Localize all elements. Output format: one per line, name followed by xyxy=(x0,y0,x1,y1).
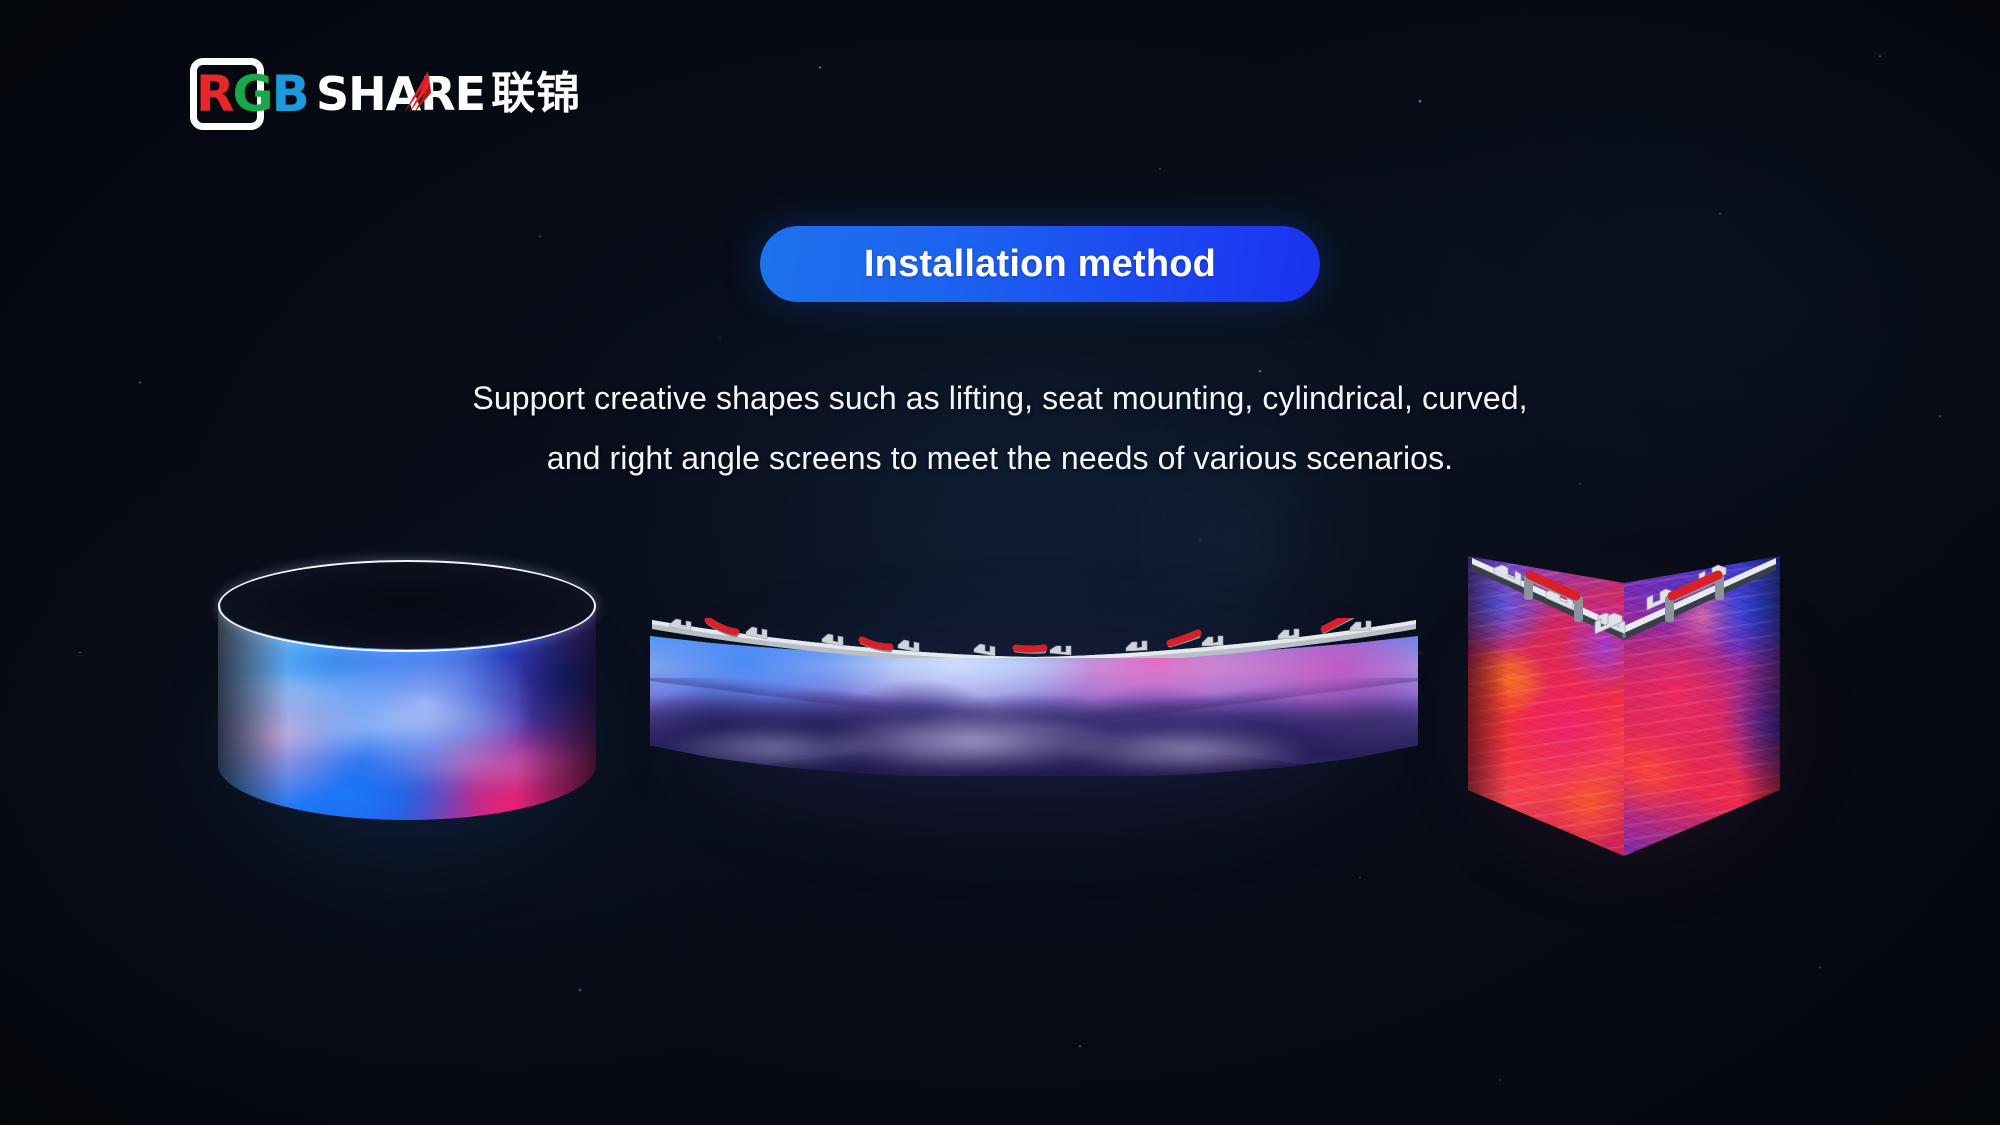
description-line-2: and right angle screens to meet the need… xyxy=(0,428,2000,488)
logo-chinese-text: 联锦 xyxy=(491,72,581,116)
cylinder-top-rim xyxy=(218,560,596,652)
starfield-layer-1 xyxy=(0,0,2000,1125)
cylinder-ambient-glow xyxy=(250,640,570,840)
starfield-layer-3 xyxy=(0,0,2000,1125)
rightangle-right-sparks xyxy=(1624,556,1780,856)
logo-wordmark: SHARE xyxy=(316,67,485,121)
logo-wordmark-wrap: SHARE xyxy=(316,71,485,117)
page-title: Installation method xyxy=(864,243,1216,286)
rightangle-right-shards xyxy=(1624,556,1780,856)
cylinder-display-surface xyxy=(218,605,596,820)
curved-display-surface xyxy=(650,636,1418,776)
rightangle-left-shards xyxy=(1468,556,1624,856)
slide-root: RGB SHARE 联锦 Installation method Support… xyxy=(0,0,2000,1125)
rightangle-mounting-rail xyxy=(1468,556,1780,676)
curved-nebula-glow xyxy=(1080,636,1418,717)
description-text: Support creative shapes such as lifting,… xyxy=(0,368,2000,488)
curved-mounting-rail xyxy=(650,618,1418,658)
cylinder-right-shading xyxy=(516,605,596,820)
logo-letter-b: B xyxy=(272,65,308,123)
rightangle-left-sparks xyxy=(1468,556,1624,856)
rightangle-right-panel xyxy=(1624,556,1780,856)
logo-letter-g: G xyxy=(233,65,272,123)
rightangle-right-vignette xyxy=(1740,556,1780,856)
curved-mist-layer xyxy=(650,709,1418,776)
curved-peak-edges xyxy=(650,678,1418,776)
cylinder-left-shading xyxy=(218,605,288,820)
product-showcase xyxy=(0,0,2000,1125)
product-right-angle-screen xyxy=(1468,556,1780,868)
curved-mountain-scene xyxy=(650,636,1418,776)
logo-letter-r: R xyxy=(196,65,233,123)
rightangle-left-vignette xyxy=(1468,556,1508,856)
cylinder-interior xyxy=(221,563,593,649)
product-cylindrical-screen xyxy=(218,560,596,860)
brand-logo: RGB SHARE 联锦 xyxy=(190,58,581,130)
logo-rgb-letters: RGB xyxy=(196,69,308,119)
rightangle-ambient-glow xyxy=(1490,620,1770,840)
cylinder-wave-highlight xyxy=(218,605,596,820)
description-line-1: Support creative shapes such as lifting,… xyxy=(0,368,2000,428)
product-curved-screen xyxy=(650,618,1418,790)
page-title-pill: Installation method xyxy=(760,226,1320,302)
curved-ambient-glow xyxy=(700,650,1360,810)
rightangle-left-panel xyxy=(1468,556,1624,856)
starfield-layer-2 xyxy=(0,0,2000,1125)
